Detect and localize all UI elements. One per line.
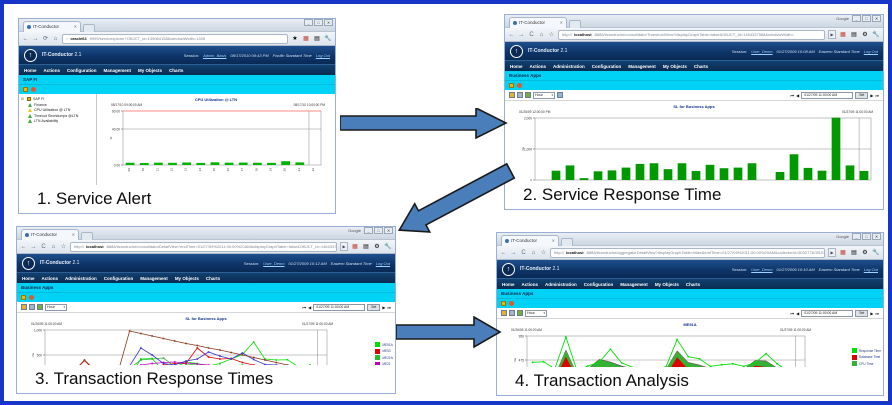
session-info-4: Session: User_Demo 01/27/2009 10:10 AM E…	[732, 267, 878, 272]
page-menu-icon[interactable]: ▤	[313, 35, 321, 42]
new-tab-button[interactable]	[569, 20, 581, 28]
table-icon[interactable]	[517, 92, 523, 98]
context-icons-2	[505, 81, 883, 90]
svg-text:ms: ms	[31, 353, 35, 357]
svg-text:ms: ms	[513, 358, 517, 362]
window-buttons-1: _ □ ✕	[304, 19, 333, 26]
refresh-icon[interactable]	[517, 83, 522, 88]
date-input[interactable]: 01/27/09 11:00:00 AM	[801, 310, 853, 317]
graph-toolbar-4: Hour ▾ ⏮ ◀ 01/27/09 11:00:00 AM Set ▶ ⏭	[497, 308, 883, 319]
minimize-button[interactable]: _	[852, 15, 861, 22]
svg-text:09: 09	[127, 168, 131, 172]
date-value: 01/27/09 11:00:00 AM	[804, 93, 837, 97]
brand-version: 2.1	[73, 260, 80, 266]
extension-icon[interactable]: ▦	[351, 243, 359, 250]
set-button[interactable]: Set	[855, 310, 868, 317]
forward-icon[interactable]: →	[30, 244, 37, 250]
legend-item[interactable]: ME53	[375, 349, 393, 354]
svg-text:21: 21	[297, 168, 301, 172]
chevron-down-icon: ▾	[543, 311, 545, 315]
svg-text:10: 10	[141, 168, 145, 172]
last-page-icon[interactable]: ⏭	[875, 311, 879, 316]
favicon-icon	[513, 21, 517, 25]
it-conductor-logo-icon: ↑	[22, 257, 35, 270]
back-icon[interactable]: ←	[22, 36, 29, 42]
main-menu-4: Home Actions Administration Configuratio…	[497, 278, 883, 289]
table-icon[interactable]	[29, 304, 35, 310]
brand-name: IT-Conductor	[528, 48, 559, 54]
context-bar-1: SAP FI	[19, 75, 335, 85]
document-icon[interactable]	[23, 87, 28, 92]
it-conductor-logo-icon: ↑	[502, 263, 515, 276]
tree-node-label: SAP FI	[33, 97, 44, 101]
document-icon[interactable]	[21, 295, 26, 300]
interval-select[interactable]: Hour ▾	[45, 304, 67, 311]
menu-item-charts[interactable]: Charts	[694, 64, 708, 69]
tree-node[interactable]: CPU Utilization @ LTN	[21, 108, 94, 112]
menu-item-charts[interactable]: Charts	[686, 282, 700, 287]
context-bar-3: Business Apps	[17, 283, 395, 293]
home-icon[interactable]: ⌂	[52, 36, 59, 42]
session-label: Session:	[732, 49, 747, 54]
refresh-icon[interactable]	[509, 301, 514, 306]
context-icons-4	[497, 299, 883, 308]
session-time: 08/17/2010 09:43 PM	[230, 53, 268, 58]
panel-caption-2: 2. Service Response Time	[505, 181, 883, 209]
app-header-2: ↑ IT-Conductor 2.1 Session: User_Demo 01…	[505, 42, 883, 60]
menu-item-actions[interactable]: Actions	[522, 282, 539, 287]
browser-urlbar-4: ← → C ⌂ ☆ http:// localhost :8888/itcond…	[497, 246, 883, 260]
url-host: oracle64	[70, 36, 86, 41]
svg-text:0.00: 0.00	[114, 163, 120, 167]
chevron-down-icon: ▾	[63, 305, 65, 309]
first-page-icon[interactable]: ⏮	[791, 93, 795, 98]
legend-item[interactable]: Database Time	[852, 355, 881, 360]
home-icon[interactable]: ⌂	[530, 250, 537, 256]
tree-node-label: LTN Availability	[34, 119, 58, 123]
address-bar[interactable]: ◌ oracle64 :9999/servicexplorer?OBJCT_id…	[62, 34, 288, 44]
svg-text:16: 16	[226, 168, 230, 172]
arrow-3-to-4	[396, 316, 502, 350]
session-user-link[interactable]: Admin_Basis	[203, 53, 226, 58]
back-icon[interactable]: ←	[508, 32, 515, 38]
date-input[interactable]: 01/27/09 11:00:00 AM	[801, 92, 853, 99]
slide-canvas: IT-Conductor ✕ _ □ ✕ ← → ⟳ ⌂ ◌ oracle64 …	[0, 0, 892, 405]
settings-icon[interactable]: ⚙	[861, 249, 869, 256]
menu-item-home[interactable]: Home	[502, 282, 515, 287]
maximize-button[interactable]: □	[314, 19, 323, 26]
green-triangle-icon	[28, 103, 32, 107]
tab-label: IT-Conductor	[519, 18, 545, 28]
page-menu-icon[interactable]: ▤	[362, 243, 370, 250]
url-path: :8888/itconductor/consolidatorThresholdV…	[594, 32, 794, 37]
home-icon[interactable]: ⌂	[50, 244, 57, 250]
app-header-4: ↑ IT-Conductor 2.1 Session: User_Demo 01…	[497, 260, 883, 278]
browser-urlbar-1: ← → ⟳ ⌂ ◌ oracle64 :9999/servicexplorer?…	[19, 32, 335, 46]
main-menu-3: Home Actions Administration Configuratio…	[17, 272, 395, 283]
first-page-icon[interactable]: ⏮	[791, 311, 795, 316]
menu-item-configuration[interactable]: Configuration	[584, 282, 614, 287]
document-icon[interactable]	[509, 83, 514, 88]
context-bar-2: Business Apps	[505, 71, 883, 81]
next-page-icon[interactable]: ▶	[870, 311, 873, 316]
export-icon[interactable]	[37, 304, 43, 310]
tab-label: IT-Conductor	[31, 230, 57, 240]
close-icon[interactable]: ✕	[560, 18, 563, 28]
bookmark-star-icon[interactable]: ★	[291, 35, 299, 42]
forward-icon[interactable]: →	[518, 32, 525, 38]
address-bar[interactable]: http:// localhost :8888/itconductor/aggr…	[550, 248, 825, 258]
close-button[interactable]: ✕	[872, 233, 881, 240]
settings-icon[interactable]: ⚙	[861, 31, 869, 38]
prev-page-icon[interactable]: ◀	[308, 305, 311, 310]
url-path: :8888/itconductor/consolidatorDetailView…	[106, 244, 337, 249]
save-icon[interactable]	[509, 92, 515, 98]
tree-node-label: CPU Utilization @ LTN	[34, 108, 70, 112]
legend-item[interactable]: CPU Time	[852, 361, 881, 366]
logout-link[interactable]: Log Out	[316, 53, 330, 58]
menu-item-charts[interactable]: Charts	[206, 276, 220, 281]
brand-name: IT-Conductor	[520, 266, 551, 272]
go-button[interactable]: ▶	[828, 248, 836, 257]
address-bar[interactable]: http:// localhost :8888/itconductor/cons…	[70, 242, 337, 252]
legend-label: Response Time	[859, 349, 881, 353]
back-icon[interactable]: ←	[20, 244, 27, 250]
wrench-icon[interactable]: 🔧	[872, 249, 880, 256]
home-icon[interactable]: ⌂	[538, 32, 545, 38]
close-icon[interactable]: ✕	[552, 236, 555, 246]
minimize-button[interactable]: _	[364, 227, 373, 234]
context-icons-3	[17, 293, 395, 302]
menu-item-my-objects[interactable]: My Objects	[175, 276, 199, 281]
legend-swatch-icon	[852, 361, 857, 366]
browser-tabstrip-3: IT-Conductor ✕ Google _ □ ✕	[17, 227, 395, 240]
menu-item-home[interactable]: Home	[22, 276, 35, 281]
security-icon: ◌	[66, 36, 68, 41]
main-menu-1: Home Actions Configuration Management My…	[19, 64, 335, 75]
menu-item-charts[interactable]: Charts	[169, 68, 183, 73]
extension-icon[interactable]: ▦	[839, 31, 847, 38]
extension-icon[interactable]: ▦	[302, 35, 310, 42]
context-bar-4: Business Apps	[497, 289, 883, 299]
minimize-button[interactable]: _	[852, 233, 861, 240]
url-host: localhost	[86, 244, 104, 249]
it-conductor-logo-icon: ↑	[24, 49, 37, 62]
favicon-icon	[25, 233, 29, 237]
date-value: 01/27/09 11:00:00 AM	[316, 305, 349, 309]
browser-tabstrip-4: IT-Conductor ✕ Google _ □ ✕	[497, 233, 883, 246]
set-button[interactable]: Set	[367, 304, 380, 311]
session-label: Session:	[184, 53, 199, 58]
svg-text:1,000: 1,000	[34, 328, 42, 332]
panel-caption-1: 1. Service Alert	[19, 185, 335, 213]
reload-icon[interactable]: ⟳	[42, 35, 49, 42]
cpu-utilization-chart: 0.0040.0060.00%0910111213141516171819202…	[97, 107, 329, 179]
url-host: localhost	[566, 250, 584, 255]
browser-label: Google	[348, 228, 361, 233]
tree-node[interactable]: Timeout Shortdumps @LTN	[21, 114, 94, 118]
svg-text:12: 12	[170, 168, 174, 172]
extension-icon[interactable]: ▦	[839, 249, 847, 256]
back-icon[interactable]: ←	[500, 250, 507, 256]
session-label: Session:	[244, 261, 259, 266]
svg-text:15: 15	[212, 168, 216, 172]
menu-item-my-objects[interactable]: My Objects	[663, 64, 687, 69]
main-menu-2: Home Actions Administration Configuratio…	[505, 60, 883, 71]
maximize-button[interactable]: □	[374, 227, 383, 234]
browser-tab[interactable]: IT-Conductor ✕	[509, 17, 567, 28]
menu-item-management[interactable]: Management	[628, 64, 656, 69]
reload-icon[interactable]: C	[40, 244, 47, 250]
panel-transaction-analysis: IT-Conductor ✕ Google _ □ ✕ ← → C ⌂ ☆ ht…	[496, 232, 884, 396]
menu-item-management[interactable]: Management	[140, 276, 168, 281]
menu-item-administration[interactable]: Administration	[65, 276, 97, 281]
graph-toolbar-2: Hour ▾ ⏮ ◀ 01/27/09 11:00:00 AM Set ▶ ⏭	[505, 90, 883, 101]
browser-tab[interactable]: IT-Conductor ✕	[23, 21, 81, 32]
refresh-icon[interactable]	[31, 87, 36, 92]
svg-text:22: 22	[311, 168, 315, 172]
close-icon[interactable]: ✕	[74, 22, 77, 32]
session-user-link[interactable]: User_Demo	[263, 261, 284, 266]
context-icons-1	[19, 85, 335, 94]
legend-swatch-icon	[852, 355, 857, 360]
favicon-icon	[27, 25, 31, 29]
svg-text:20: 20	[283, 168, 287, 172]
session-info-1: Session: Admin_Basis 08/17/2010 09:43 PM…	[184, 53, 330, 58]
session-user-link[interactable]: User_Demo	[751, 49, 772, 54]
page-menu-icon[interactable]: ▤	[850, 249, 858, 256]
maximize-button[interactable]: □	[862, 15, 871, 22]
it-conductor-logo-icon: ↑	[510, 45, 523, 58]
close-button[interactable]: ✕	[872, 15, 881, 22]
brand-label: IT-Conductor 2.1	[40, 260, 79, 266]
tree-node[interactable]: Finance	[21, 103, 94, 107]
menu-item-my-objects[interactable]: My Objects	[138, 68, 162, 73]
logout-link[interactable]: Log Out	[864, 49, 878, 54]
green-triangle-icon	[28, 119, 32, 123]
tree-node[interactable]: LTN Availability	[21, 119, 94, 123]
forward-icon[interactable]: →	[32, 36, 39, 42]
svg-text:13: 13	[184, 168, 188, 172]
panel-caption-3: 3. Transaction Response Times	[17, 365, 395, 393]
panel-service-response-time: IT-Conductor ✕ Google _ □ ✕ ← → C ⌂ ☆ ht…	[504, 14, 884, 210]
interval-value: Hour	[535, 93, 543, 97]
session-info-2: Session: User_Demo 01/27/2009 10:08 AM E…	[732, 49, 878, 54]
legend-item[interactable]: ME21N	[375, 355, 393, 360]
minimize-button[interactable]: _	[304, 19, 313, 26]
browser-tabstrip-1: IT-Conductor ✕ _ □ ✕	[19, 19, 335, 32]
export-icon[interactable]	[517, 310, 523, 316]
legend-label: CPU Time	[859, 362, 874, 366]
next-page-icon[interactable]: ▶	[382, 305, 385, 310]
menu-item-actions[interactable]: Actions	[530, 64, 547, 69]
tab-label: IT-Conductor	[33, 22, 59, 32]
new-tab-button[interactable]	[561, 238, 573, 246]
svg-text:19: 19	[269, 168, 273, 172]
context-title: Business Apps	[501, 291, 533, 296]
export-icon[interactable]	[525, 92, 531, 98]
svg-text:14: 14	[198, 168, 202, 172]
zoom-icon[interactable]	[557, 92, 563, 98]
yellow-triangle-icon	[28, 108, 32, 112]
brand-label: IT-Conductor 2.1	[520, 266, 559, 272]
menu-item-actions[interactable]: Actions	[44, 68, 61, 73]
legend-label: ME51A	[382, 343, 392, 347]
expand-icon[interactable]: ⊟	[21, 97, 25, 101]
new-tab-button[interactable]	[81, 232, 93, 240]
url-path: :8888/itconductor/aggregatorDetailView?d…	[586, 250, 825, 255]
menu-item-administration[interactable]: Administration	[545, 282, 577, 287]
tree-node-label: Finance	[34, 103, 47, 107]
prev-page-icon[interactable]: ◀	[796, 311, 799, 316]
bookmark-star-icon[interactable]: ☆	[60, 243, 67, 250]
interval-select[interactable]: Hour ▾	[533, 92, 555, 99]
brand-name: IT-Conductor	[40, 260, 71, 266]
svg-text:1,000: 1,000	[524, 147, 532, 151]
session-label: Session:	[732, 267, 747, 272]
menu-item-administration[interactable]: Administration	[553, 64, 585, 69]
new-tab-button[interactable]	[83, 24, 95, 32]
prev-page-icon[interactable]: ◀	[796, 93, 799, 98]
window-buttons-3: Google _ □ ✕	[348, 227, 393, 234]
session-info-3: Session: User_Demo 01/27/2009 10:12 AM E…	[244, 261, 390, 266]
window-buttons-4: Google _ □ ✕	[836, 233, 881, 240]
bookmark-star-icon[interactable]: ☆	[540, 249, 547, 256]
refresh-icon[interactable]	[29, 295, 34, 300]
date-input[interactable]: 01/27/09 11:00:00 AM	[313, 304, 365, 311]
svg-text:ms: ms	[521, 147, 525, 151]
bookmark-star-icon[interactable]: ☆	[548, 31, 555, 38]
chart-title: ME51A	[497, 319, 883, 327]
chart-title: CPU Utilization @ LTN	[97, 94, 335, 102]
brand-version: 2.1	[75, 52, 82, 58]
close-button[interactable]: ✕	[324, 19, 333, 26]
time-nav-2: ⏮ ◀ 01/27/09 11:00:00 AM Set ▶ ⏭	[791, 92, 879, 99]
brand-label: IT-Conductor 2.1	[528, 48, 567, 54]
menu-item-management[interactable]: Management	[620, 282, 648, 287]
menu-item-management[interactable]: Management	[104, 68, 132, 73]
last-page-icon[interactable]: ⏭	[875, 93, 879, 98]
window-buttons-2: Google _ □ ✕	[836, 15, 881, 22]
url-host: localhost	[574, 32, 592, 37]
browser-urlbar-3: ← → C ⌂ ☆ http:// localhost :8888/itcond…	[17, 240, 395, 254]
session-time: 01/27/2009 10:08 AM	[777, 49, 815, 54]
session-time: 01/27/2009 10:12 AM	[289, 261, 327, 266]
interval-value: Hour	[47, 305, 55, 309]
legend-swatch-icon	[852, 348, 857, 353]
set-button[interactable]: Set	[855, 92, 868, 99]
date-value: 01/27/09 11:00:00 AM	[804, 311, 837, 315]
go-button[interactable]: ▶	[340, 242, 348, 251]
interval-select[interactable]: Hour ▾	[525, 310, 547, 317]
save-icon[interactable]	[21, 304, 27, 310]
table-icon[interactable]	[509, 310, 515, 316]
brand-version: 2.1	[561, 48, 568, 54]
session-timezone: Eastern Standard Time	[819, 49, 860, 54]
next-page-icon[interactable]: ▶	[870, 93, 873, 98]
forward-icon[interactable]: →	[510, 250, 517, 256]
svg-text:500: 500	[37, 353, 43, 357]
first-page-icon[interactable]: ⏮	[303, 305, 307, 310]
menu-item-configuration[interactable]: Configuration	[592, 64, 622, 69]
time-nav-4: ⏮ ◀ 01/27/09 11:00:00 AM Set ▶ ⏭	[791, 310, 879, 317]
app-header-3: ↑ IT-Conductor 2.1 Session: User_Demo 01…	[17, 254, 395, 272]
panel-caption-4: 4. Transaction Analysis	[497, 367, 883, 395]
green-triangle-icon	[28, 114, 32, 118]
graph-toolbar-3: Hour ▾ ⏮ ◀ 01/27/09 11:00:00 AM Set ▶ ⏭	[17, 302, 395, 313]
legend-item[interactable]: Response Time	[852, 348, 881, 353]
arrow-2-to-3	[390, 156, 518, 246]
browser-tabstrip-2: IT-Conductor ✕ Google _ □ ✕	[505, 15, 883, 28]
tree-node-label: Timeout Shortdumps @LTN	[34, 114, 78, 118]
go-button[interactable]: ▶	[828, 30, 836, 39]
menu-item-actions[interactable]: Actions	[42, 276, 59, 281]
legend-item[interactable]: ME51A	[375, 342, 393, 347]
context-title: Business Apps	[509, 73, 541, 78]
panel-transaction-response-times: IT-Conductor ✕ Google _ □ ✕ ← → C ⌂ ☆ ht…	[16, 226, 396, 394]
last-page-icon[interactable]: ⏭	[387, 305, 391, 310]
session-user-link[interactable]: User_Demo	[751, 267, 772, 272]
session-timezone: Eastern Standard Time	[331, 261, 372, 266]
chevron-down-icon: ▾	[551, 93, 553, 97]
panel-service-alert: IT-Conductor ✕ _ □ ✕ ← → ⟳ ⌂ ◌ oracle64 …	[18, 18, 336, 214]
interval-value: Hour	[527, 311, 535, 315]
svg-text:2,000: 2,000	[524, 116, 532, 120]
chart-title: SL for Business Apps	[505, 101, 883, 109]
legend-swatch-icon	[375, 355, 380, 360]
menu-item-home[interactable]: Home	[24, 68, 37, 73]
svg-text:11: 11	[155, 168, 159, 171]
address-bar[interactable]: http:// localhost :8888/itconductor/cons…	[558, 30, 825, 40]
arrow-1-to-2	[340, 108, 508, 142]
session-timezone: Eastern Standard Time	[819, 267, 860, 272]
svg-text:475: 475	[519, 358, 525, 362]
tree-node-root[interactable]: ⊟ SAP FI	[21, 97, 94, 101]
logout-link[interactable]: Log Out	[376, 261, 390, 266]
session-time: 01/27/2009 10:10 AM	[777, 267, 815, 272]
wrench-icon[interactable]: 🔧	[324, 35, 332, 42]
time-nav-3: ⏮ ◀ 01/27/09 11:00:00 AM Set ▶ ⏭	[303, 304, 391, 311]
menu-item-configuration[interactable]: Configuration	[104, 276, 134, 281]
menu-item-my-objects[interactable]: My Objects	[655, 282, 679, 287]
menu-item-configuration[interactable]: Configuration	[67, 68, 97, 73]
brand-label: IT-Conductor 2.1	[42, 52, 81, 58]
legend-swatch-icon	[375, 349, 380, 354]
browser-urlbar-2: ← → C ⌂ ☆ http:// localhost :8888/itcond…	[505, 28, 883, 42]
browser-tab[interactable]: IT-Conductor ✕	[21, 229, 79, 240]
menu-item-home[interactable]: Home	[510, 64, 523, 69]
wrench-icon[interactable]: 🔧	[872, 31, 880, 38]
svg-text:950: 950	[519, 334, 525, 338]
settings-icon[interactable]: ⚙	[373, 243, 381, 250]
plot-1: 0.0040.0060.00%0910111213141516171819202…	[97, 107, 335, 179]
legend-label: Database Time	[859, 355, 880, 359]
reload-icon[interactable]: C	[528, 32, 535, 38]
document-icon[interactable]	[501, 301, 506, 306]
svg-text:40.00: 40.00	[112, 127, 120, 131]
chart-title: SL for Business Apps	[17, 313, 395, 321]
page-menu-icon[interactable]: ▤	[850, 31, 858, 38]
logout-link[interactable]: Log Out	[864, 267, 878, 272]
svg-text:18: 18	[254, 168, 258, 172]
maximize-button[interactable]: □	[862, 233, 871, 240]
close-icon[interactable]: ✕	[72, 230, 75, 240]
folder-square-icon	[27, 97, 31, 101]
reload-icon[interactable]: C	[520, 250, 527, 256]
app-header-1: ↑ IT-Conductor 2.1 Session: Admin_Basis …	[19, 46, 335, 64]
svg-text:60.00: 60.00	[112, 109, 120, 113]
context-title: SAP FI	[23, 77, 37, 82]
